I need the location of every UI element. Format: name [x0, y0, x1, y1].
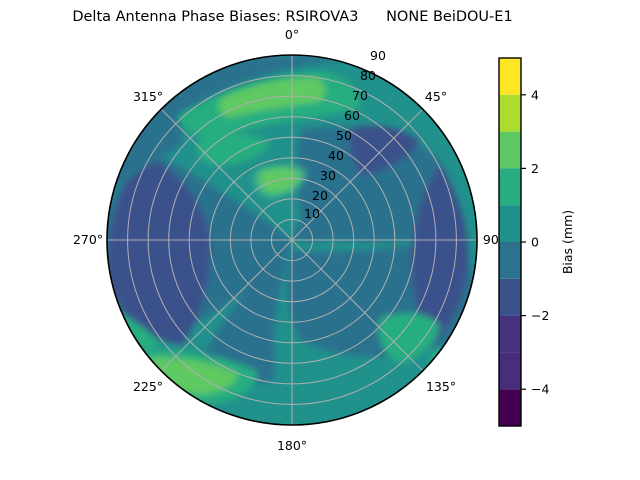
colorbar-tick-labels: 4 2 0 −2 −4	[531, 87, 549, 396]
radial-tick-90: 90	[370, 48, 386, 63]
radial-tick-10: 10	[304, 206, 320, 221]
angular-tick-180: 180°	[277, 438, 307, 453]
colorbar-band-1-2	[499, 168, 521, 205]
radial-tick-60: 60	[344, 108, 360, 123]
colorbar-band-4-5	[499, 58, 521, 95]
colorbar-band-2-3	[499, 132, 521, 169]
colorbar-band-0-1	[499, 205, 521, 242]
colorbar-band-n1-0	[499, 242, 521, 279]
radial-tick-30: 30	[320, 168, 336, 183]
radial-tick-40: 40	[328, 148, 344, 163]
colorbar-tick-label-2: 2	[531, 161, 539, 176]
angular-tick-225: 225°	[133, 379, 163, 394]
radial-tick-20: 20	[312, 188, 328, 203]
polar-grid	[107, 55, 477, 425]
colorbar-tick-label-n4: −4	[531, 382, 549, 397]
radial-tick-70: 70	[352, 88, 368, 103]
colorbar-ticks	[521, 95, 526, 389]
colorbar-band-n5-n4	[499, 389, 521, 426]
colorbar-bands	[499, 58, 521, 426]
colorbar-band-n4-n3	[499, 352, 521, 389]
angular-tick-135: 135°	[426, 379, 456, 394]
figure-canvas: Delta Antenna Phase Biases: RSIROVA3 NON…	[0, 0, 640, 480]
colorbar-band-n2-n1	[499, 279, 521, 316]
colorbar-band-n3-n2	[499, 316, 521, 353]
angular-tick-270: 270°	[73, 232, 103, 247]
colorbar-axis-label: Bias (mm)	[560, 210, 575, 274]
radial-tick-80: 80	[360, 68, 376, 83]
colorbar-tick-label-n2: −2	[531, 308, 549, 323]
colorbar-tick-label-4: 4	[531, 87, 539, 102]
angular-tick-0: 0°	[285, 27, 299, 42]
page-title: Delta Antenna Phase Biases: RSIROVA3 NON…	[0, 9, 585, 25]
angular-tick-45: 45°	[425, 89, 447, 104]
colorbar-band-3-4	[499, 95, 521, 132]
polar-contour-plot: 0° 45° 90° 135° 180° 225° 270° 315° 10 2…	[0, 0, 640, 480]
colorbar[interactable]: 4 2 0 −2 −4 Bias (mm)	[499, 58, 575, 426]
colorbar-tick-label-0: 0	[531, 235, 539, 250]
radial-tick-50: 50	[336, 128, 352, 143]
angular-tick-315: 315°	[133, 89, 163, 104]
contour-band-pos1-e	[428, 348, 468, 376]
